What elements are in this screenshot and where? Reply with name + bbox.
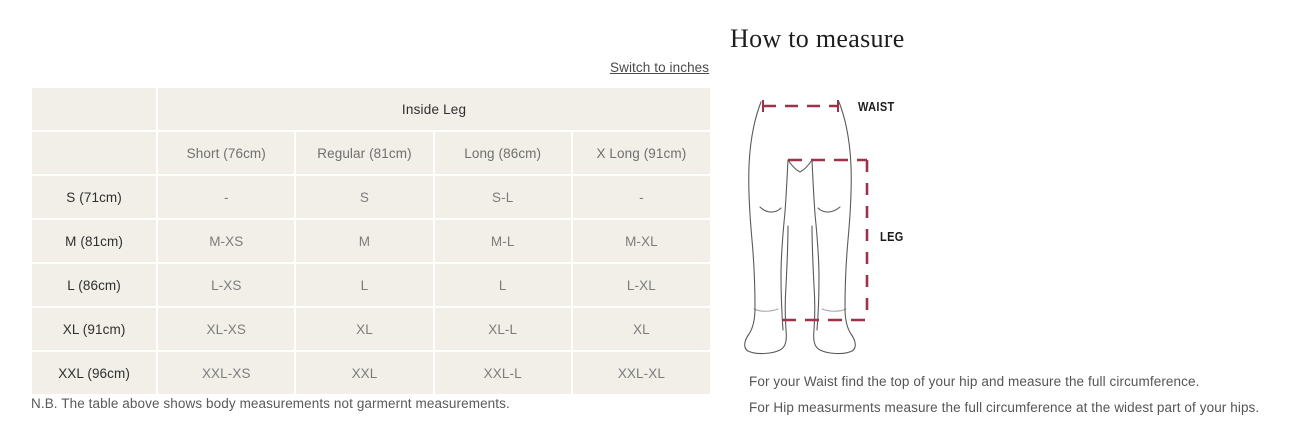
- table-cell-s-xlong: -: [572, 175, 710, 219]
- table-cell-xl-long: XL-L: [434, 307, 572, 351]
- table-row-label-m: M (81cm): [32, 219, 157, 263]
- table-footnote: N.B. The table above shows body measurem…: [31, 396, 510, 411]
- table-group-header-inside-leg: Inside Leg: [157, 88, 710, 131]
- table-corner-cell: [32, 88, 157, 131]
- table-cell-l-long: L: [434, 263, 572, 307]
- waist-instruction-text: For your Waist find the top of your hip …: [749, 374, 1199, 389]
- table-row-label-l: L (86cm): [32, 263, 157, 307]
- size-chart-panel: Switch to inches Inside Leg Short (76cm)…: [0, 0, 730, 443]
- size-chart-table: Inside Leg Short (76cm) Regular (81cm) L…: [32, 88, 710, 394]
- table-cell-s-regular: S: [295, 175, 433, 219]
- table-cell-l-xlong: L-XL: [572, 263, 710, 307]
- table-cell-m-long: M-L: [434, 219, 572, 263]
- table-cell-l-short: L-XS: [157, 263, 295, 307]
- leg-label: LEG: [880, 230, 904, 244]
- table-cell-xl-regular: XL: [295, 307, 433, 351]
- table-cell-xl-xlong: XL: [572, 307, 710, 351]
- table-cell-xxl-short: XXL-XS: [157, 351, 295, 394]
- table-column-header-xlong: X Long (91cm): [572, 131, 710, 175]
- waist-label: WAIST: [858, 100, 895, 114]
- table-column-header-short: Short (76cm): [157, 131, 295, 175]
- table-cell-xxl-long: XXL-L: [434, 351, 572, 394]
- table-cell-m-short: M-XS: [157, 219, 295, 263]
- table-row-label-xl: XL (91cm): [32, 307, 157, 351]
- hip-instruction-text: For Hip measurments measure the full cir…: [749, 400, 1259, 415]
- table-cell-s-long: S-L: [434, 175, 572, 219]
- table-row-label-s: S (71cm): [32, 175, 157, 219]
- table-cell-m-regular: M: [295, 219, 433, 263]
- table-row-label-blank: [32, 131, 157, 175]
- table-cell-s-short: -: [157, 175, 295, 219]
- table-row-group-header: Inside Leg: [32, 88, 710, 131]
- table-row: XXL (96cm) XXL-XS XXL XXL-L XXL-XL: [32, 351, 710, 394]
- table-cell-xxl-xlong: XXL-XL: [572, 351, 710, 394]
- table-row-column-headers: Short (76cm) Regular (81cm) Long (86cm) …: [32, 131, 710, 175]
- table-cell-m-xlong: M-XL: [572, 219, 710, 263]
- table-column-header-long: Long (86cm): [434, 131, 572, 175]
- table-column-header-regular: Regular (81cm): [295, 131, 433, 175]
- table-cell-xl-short: XL-XS: [157, 307, 295, 351]
- table-row: L (86cm) L-XS L L L-XL: [32, 263, 710, 307]
- table-row: S (71cm) - S S-L -: [32, 175, 710, 219]
- page-title: How to measure: [730, 24, 905, 54]
- table-cell-l-regular: L: [295, 263, 433, 307]
- switch-units-link[interactable]: Switch to inches: [610, 60, 709, 75]
- body-figure-icon: [730, 80, 960, 355]
- leg-measure-line: [782, 160, 867, 320]
- table-cell-xxl-regular: XXL: [295, 351, 433, 394]
- table-row: XL (91cm) XL-XS XL XL-L XL: [32, 307, 710, 351]
- how-to-measure-panel: How to measure: [730, 0, 1308, 443]
- table-row: M (81cm) M-XS M M-L M-XL: [32, 219, 710, 263]
- table-row-label-xxl: XXL (96cm): [32, 351, 157, 394]
- measurement-diagram: WAIST LEG: [730, 80, 960, 355]
